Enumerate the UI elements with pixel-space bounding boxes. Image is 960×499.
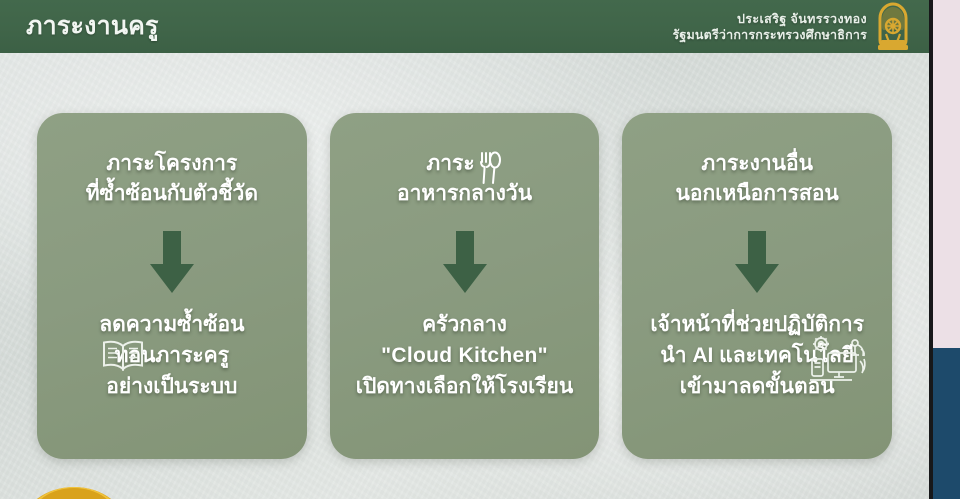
card-body: เจ้าหน้าที่ช่วยปฏิบัติการ นำ AI และเทคโน… — [650, 309, 864, 402]
card-lunch-burden[interactable]: ภาระ อาหารกลางวัน ครัวกลาง "Cloud Kitche… — [330, 113, 600, 459]
card-heading-line2: อาหารกลางวัน — [397, 182, 532, 205]
card-heading: ภาระงานอื่น นอกเหนือการสอน — [676, 149, 839, 209]
slide-header-bar: ภาระงานครู ประเสริฐ จันทรรวงทอง รัฐมนตรี… — [0, 0, 929, 53]
card-other-duties[interactable]: ภาระงานอื่น นอกเหนือการสอน — [622, 113, 892, 459]
card-row: ภาระโครงการ ที่ซ้ำซ้อนกับตัวชี้วัด ลดควา… — [0, 113, 929, 459]
card-heading: ภาระ อาหารกลางวัน — [397, 149, 532, 209]
card-body: ครัวกลาง "Cloud Kitchen" เปิดทางเลือกให้… — [356, 309, 573, 402]
presentation-slide: ภาระงานครู ประเสริฐ จันทรรวงทอง รัฐมนตรี… — [0, 0, 929, 499]
screen: ภาระงานครู ประเสริฐ จันทรรวงทอง รัฐมนตรี… — [0, 0, 960, 499]
card-body-line1: เจ้าหน้าที่ช่วยปฏิบัติการ — [650, 313, 864, 336]
gold-medallion-icon — [18, 465, 130, 499]
card-heading-line1: ภาระงานอื่น — [701, 152, 813, 175]
speaker-name: ประเสริฐ จันทรรวงทอง — [672, 11, 867, 27]
fork-spoon-icon — [476, 151, 502, 185]
card-body-line1: ลดความซ้ำซ้อน — [99, 313, 244, 336]
computer-tech-icon — [808, 335, 870, 387]
down-arrow-icon — [729, 231, 785, 293]
card-heading-line1: ภาระโครงการ — [106, 152, 237, 175]
card-project-burden[interactable]: ภาระโครงการ ที่ซ้ำซ้อนกับตัวชี้วัด ลดควา… — [37, 113, 307, 459]
card-heading-line1: ภาระ — [426, 152, 474, 175]
ministry-emblem-icon — [872, 2, 914, 52]
card-body-line2: "Cloud Kitchen" — [381, 344, 548, 367]
down-arrow-icon — [437, 231, 493, 293]
card-heading-line2: นอกเหนือการสอน — [676, 182, 839, 205]
card-heading: ภาระโครงการ ที่ซ้ำซ้อนกับตัวชี้วัด — [86, 149, 258, 209]
card-body-line3: อย่างเป็นระบบ — [106, 375, 237, 398]
card-body-line3: เปิดทางเลือกให้โรงเรียน — [356, 375, 573, 398]
card-body-line1: ครัวกลาง — [422, 313, 507, 336]
page-title: ภาระงานครู — [26, 10, 159, 42]
card-body: ลดความซ้ำซ้อน ทอนภาระครู อย่างเป็นระบบ — [99, 309, 244, 402]
down-arrow-icon — [144, 231, 200, 293]
speaker-credit: ประเสริฐ จันทรรวงทอง รัฐมนตรีว่าการกระทร… — [672, 11, 867, 43]
speaker-role: รัฐมนตรีว่าการกระทรวงศึกษาธิการ — [672, 27, 867, 43]
card-heading-line2: ที่ซ้ำซ้อนกับตัวชี้วัด — [86, 182, 258, 205]
open-book-icon — [101, 339, 145, 371]
desktop-accent-block — [933, 348, 960, 499]
